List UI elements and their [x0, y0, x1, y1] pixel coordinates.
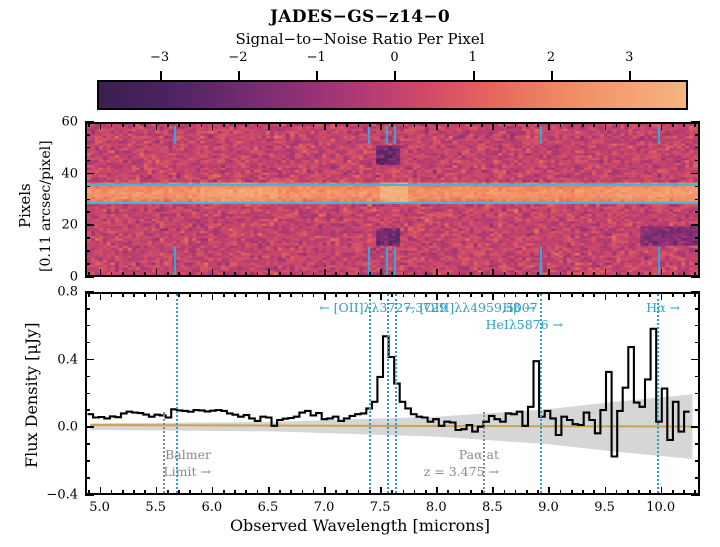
- panel2d-xtick: [571, 122, 573, 127]
- panel2d-xtick: [313, 122, 315, 127]
- panel2d-xtick: [661, 269, 663, 277]
- panel2d-xtick: [156, 269, 158, 277]
- panel2d-xtick: [346, 122, 348, 127]
- flux-xtick: [290, 490, 292, 495]
- flux-xtick: [156, 487, 158, 495]
- panel2d-xtick: [88, 122, 90, 127]
- colorbar-tick: [551, 71, 553, 80]
- panel2d-xtick: [111, 272, 113, 277]
- flux-xtick: [223, 490, 225, 495]
- flux-xtick: [369, 292, 371, 297]
- flux-xtick: [201, 490, 203, 495]
- flux-xtick: [526, 490, 528, 495]
- line-marker-tick-oiii-5007: [394, 126, 396, 144]
- flux-ytick: [691, 426, 700, 428]
- panel2d-xtick: [100, 269, 102, 277]
- colorbar-gradient: [97, 80, 688, 110]
- panel2d-xtick: [414, 272, 416, 277]
- panel2d-xtick: [302, 122, 304, 127]
- panel2d-ytick: [85, 121, 94, 123]
- panel2d-xtick: [582, 272, 584, 277]
- panel2d-xtick: [223, 122, 225, 127]
- panel2d-xtick: [302, 272, 304, 277]
- flux-xtick: [279, 292, 281, 297]
- panel2d-xtick: [346, 272, 348, 277]
- xaxis-tick-label: 5.5: [145, 500, 166, 515]
- panel2d-xtick: [481, 122, 483, 127]
- flux-xtick: [245, 490, 247, 495]
- panel2d-xtick: [515, 272, 517, 277]
- flux-ytick: [695, 393, 700, 395]
- flux-ytick: [85, 409, 90, 411]
- flux-xtick: [504, 292, 506, 297]
- flux-ytick: [695, 325, 700, 327]
- panel2d-xtick: [380, 269, 382, 277]
- panel2d-xtick: [447, 122, 449, 127]
- flux-xtick: [403, 490, 405, 495]
- flux-xtick: [694, 292, 696, 297]
- colorbar-tick: [629, 71, 631, 80]
- panel2d-xtick: [167, 122, 169, 127]
- panel2d-xtick: [582, 122, 584, 127]
- panel2d-xtick: [672, 272, 674, 277]
- panel2d-xtick: [358, 272, 360, 277]
- panel2d-xtick: [133, 122, 135, 127]
- panel2d-ytick: [85, 160, 90, 162]
- flux-xtick: [234, 490, 236, 495]
- line-marker-oiii-4959: [387, 294, 389, 493]
- colorbar-tick: [160, 71, 162, 80]
- flux-xtick: [571, 292, 573, 297]
- flux-xtick: [380, 292, 382, 300]
- flux-ytick: [85, 443, 90, 445]
- extraction-row-line: [87, 202, 698, 204]
- panel2d-ytick: [85, 211, 90, 213]
- flux-xtick: [201, 292, 203, 297]
- panel2d-xtick: [414, 122, 416, 127]
- annotation-oiii: ← [OIII]λλ4959,5007: [405, 300, 538, 315]
- flux-xtick: [414, 490, 416, 495]
- panel2d-xtick: [605, 122, 607, 130]
- flux-ytick: [85, 494, 94, 496]
- panel2d-xtick: [627, 272, 629, 277]
- panel2d-ytick: [85, 276, 94, 278]
- flux-xtick: [447, 292, 449, 297]
- flux-xtick: [459, 490, 461, 495]
- panel2d-xtick: [156, 122, 158, 130]
- flux-xtick: [313, 292, 315, 297]
- colorbar-tick-label: 1: [469, 50, 477, 65]
- panel2d-xtick: [504, 122, 506, 127]
- flux-xtick: [616, 490, 618, 495]
- panel2d-xtick: [436, 269, 438, 277]
- panel2d-ytick: [85, 186, 90, 188]
- panel2d-xtick: [672, 122, 674, 127]
- flux-xtick: [605, 292, 607, 300]
- flux-xtick: [459, 292, 461, 297]
- flux-xtick: [212, 487, 214, 495]
- flux-xtick: [100, 487, 102, 495]
- xaxis-tick-label: 9.5: [594, 500, 615, 515]
- flux-xtick: [111, 292, 113, 297]
- flux-xtick: [649, 490, 651, 495]
- panel2d-xtick: [425, 122, 427, 127]
- colorbar-tick-label: −2: [228, 50, 247, 65]
- panel2d-ytick: [85, 263, 90, 265]
- panel2d-xtick: [403, 272, 405, 277]
- panel2d-xtick: [436, 122, 438, 130]
- flux-xtick: [290, 292, 292, 297]
- panel2d-xtick: [189, 122, 191, 127]
- flux-xtick: [111, 490, 113, 495]
- panel2d-ytick: [691, 224, 700, 226]
- flux-xtick: [369, 490, 371, 495]
- flux-xtick: [178, 292, 180, 297]
- panel2d-xtick: [492, 122, 494, 130]
- panel2d-xtick: [459, 272, 461, 277]
- line-marker-oiii-5007: [395, 294, 397, 493]
- colorbar-tick-label: 0: [390, 50, 398, 65]
- flux-xtick: [346, 490, 348, 495]
- flux-xtick: [661, 487, 663, 495]
- xaxis-tick-label: 7.0: [314, 500, 335, 515]
- panel2d-xtick: [403, 122, 405, 127]
- panel2d-xtick: [144, 122, 146, 127]
- panel2d-xtick: [335, 122, 337, 127]
- panel2d-ytick: [695, 199, 700, 201]
- xaxis-tick-label: 5.0: [89, 500, 110, 515]
- xaxis-tick-label: 8.5: [482, 500, 503, 515]
- panel2d-ytick: [85, 147, 90, 149]
- flux-xtick: [504, 490, 506, 495]
- flux-xtick: [661, 292, 663, 300]
- xaxis-title: Observed Wavelength [microns]: [0, 516, 720, 535]
- flux-ytick: [695, 477, 700, 479]
- line-marker-tick-oiii-4959: [386, 126, 388, 144]
- flux-xtick: [436, 487, 438, 495]
- panel2d-xtick: [380, 122, 382, 130]
- panel2d-xtick: [649, 272, 651, 277]
- flux-xtick: [302, 292, 304, 297]
- flux-xtick: [571, 490, 573, 495]
- flux-ytick: [85, 460, 90, 462]
- panel2d-xtick: [492, 269, 494, 277]
- line-marker-hbeta: [369, 294, 371, 493]
- annotation-paschen-line1: Paα at: [459, 447, 499, 462]
- flux-xtick: [526, 292, 528, 297]
- flux-xtick: [638, 292, 640, 297]
- panel2d-xtick: [425, 272, 427, 277]
- annotation-hei: HeIλ5876 →: [486, 317, 563, 332]
- xaxis-tick-label: 7.5: [370, 500, 391, 515]
- annotation-balmer-line1: Balmer: [165, 447, 211, 462]
- panel2d-xtick: [683, 272, 685, 277]
- panel2d-xtick: [100, 122, 102, 130]
- flux-xtick: [414, 292, 416, 297]
- flux-xtick: [627, 292, 629, 297]
- panel2d-xtick: [144, 272, 146, 277]
- panel2d-xtick: [212, 269, 214, 277]
- panel2d-xtick: [212, 122, 214, 130]
- flux-xtick: [223, 292, 225, 297]
- flux-xtick: [391, 490, 393, 495]
- colorbar-tick: [316, 71, 318, 80]
- flux-ytick: [691, 359, 700, 361]
- panel2d-xtick: [537, 122, 539, 127]
- two-dimensional-spectrum-panel: [85, 122, 700, 277]
- flux-ytick: [691, 291, 700, 293]
- flux-xtick: [257, 292, 259, 297]
- panel2d-xtick: [571, 272, 573, 277]
- flux-xtick: [616, 292, 618, 297]
- panel2d-ytick: [695, 186, 700, 188]
- flux-xtick: [582, 490, 584, 495]
- panel2d-xtick: [638, 122, 640, 127]
- panel2d-ytick: [695, 134, 700, 136]
- flux-xtick: [156, 292, 158, 300]
- page-title: JADES−GS−z14−0: [0, 7, 720, 27]
- flux-xtick: [638, 490, 640, 495]
- flux-xtick: [268, 292, 270, 300]
- panel2d-xtick: [459, 122, 461, 127]
- annotation-halpha: Hα →: [646, 300, 680, 315]
- spectrum-heatmap: [87, 124, 698, 275]
- flux-xtick: [100, 292, 102, 300]
- panel2d-xtick: [201, 122, 203, 127]
- panel2d-xtick: [593, 272, 595, 277]
- panel2d-ytick-label: 60: [42, 115, 78, 130]
- flux-xtick: [403, 292, 405, 297]
- panel2d-xtick: [133, 272, 135, 277]
- figure-canvas: JADES−GS−z14−0 Signal−to−Noise Ratio Per…: [0, 0, 720, 547]
- flux-xtick: [447, 490, 449, 495]
- flux-xtick: [358, 490, 360, 495]
- panel2d-xtick: [694, 122, 696, 127]
- colorbar-tick-label: −1: [307, 50, 326, 65]
- panel2d-xtick: [548, 269, 550, 277]
- colorbar-tick: [473, 71, 475, 80]
- flux-ytick: [695, 376, 700, 378]
- line-marker-tick-hbeta: [368, 126, 370, 144]
- panel2d-xtick: [683, 122, 685, 127]
- panel2d-xtick: [290, 122, 292, 127]
- panel2d-xtick: [122, 122, 124, 127]
- panel2d-ytick: [695, 237, 700, 239]
- flux-xtick: [492, 292, 494, 300]
- flux-ytick: [85, 393, 90, 395]
- flux-xtick: [346, 292, 348, 297]
- flux-ytick: [695, 443, 700, 445]
- colorbar-tick-label: 3: [625, 50, 633, 65]
- flux-xtick: [122, 292, 124, 297]
- flux-xtick: [167, 490, 169, 495]
- flux-ytick: [85, 376, 90, 378]
- panel2d-xtick: [649, 122, 651, 127]
- panel2d-xtick: [245, 122, 247, 127]
- flux-xtick: [358, 292, 360, 297]
- colorbar-tick-label: 2: [547, 50, 555, 65]
- flux-panel-axis-title: Flux Density [μJy]: [22, 323, 41, 468]
- line-marker-tick-halpha: [658, 126, 660, 144]
- panel2d-xtick: [616, 272, 618, 277]
- flux-xtick: [279, 490, 281, 495]
- flux-xtick: [481, 490, 483, 495]
- panel2d-xtick: [548, 122, 550, 130]
- panel2d-xtick: [369, 272, 371, 277]
- flux-ytick: [695, 308, 700, 310]
- figure-subtitle: Signal−to−Noise Ratio Per Pixel: [0, 30, 720, 48]
- panel2d-xtick: [504, 272, 506, 277]
- panel2d-xtick: [661, 122, 663, 130]
- flux-xtick: [212, 292, 214, 300]
- panel2d-xtick: [167, 272, 169, 277]
- flux-xtick: [88, 292, 90, 297]
- flux-xtick: [144, 292, 146, 297]
- flux-xtick: [189, 292, 191, 297]
- panel2d-ytick: [691, 173, 700, 175]
- panel2d-xtick: [515, 122, 517, 127]
- panel2d-xtick: [391, 122, 393, 127]
- panel2d-xtick: [526, 272, 528, 277]
- flux-ytick: [85, 291, 94, 293]
- flux-xtick: [167, 292, 169, 297]
- flux-ytick: [695, 342, 700, 344]
- flux-ytick: [85, 426, 94, 428]
- panel2d-xtick: [313, 272, 315, 277]
- panel2d-xtick: [234, 122, 236, 127]
- flux-xtick: [481, 292, 483, 297]
- flux-xtick: [324, 292, 326, 300]
- panel2d-xtick: [324, 269, 326, 277]
- xaxis-tick-label: 6.5: [258, 500, 279, 515]
- line-marker-tick-oii-doublet: [174, 126, 176, 144]
- panel2d-xtick: [616, 122, 618, 127]
- panel2d-xtick: [268, 122, 270, 130]
- flux-xtick: [683, 292, 685, 297]
- flux-xtick: [548, 487, 550, 495]
- panel2d-ytick: [695, 263, 700, 265]
- panel2d-ytick: [691, 121, 700, 123]
- panel2d-ytick: [695, 211, 700, 213]
- flux-xtick: [178, 490, 180, 495]
- flux-ytick: [85, 308, 90, 310]
- flux-ytick-label: −0.4: [34, 488, 78, 503]
- flux-ytick: [691, 494, 700, 496]
- flux-ytick: [85, 342, 90, 344]
- panel2d-xtick: [470, 272, 472, 277]
- colorbar-tick: [238, 71, 240, 80]
- panel2d-xtick: [447, 272, 449, 277]
- panel2d-xtick: [526, 122, 528, 127]
- panel2d-xtick: [324, 122, 326, 130]
- panel2d-ytick: [691, 276, 700, 278]
- panel2d-xtick: [481, 272, 483, 277]
- panel2d-xtick: [391, 272, 393, 277]
- flux-ytick: [85, 477, 90, 479]
- flux-xtick: [683, 490, 685, 495]
- line-marker-tick-oiii-5007: [394, 247, 396, 277]
- flux-xtick: [245, 292, 247, 297]
- xaxis-tick-label: 6.0: [201, 500, 222, 515]
- flux-xtick: [470, 292, 472, 297]
- flux-xtick: [391, 292, 393, 297]
- panel2d-ytick: [85, 250, 90, 252]
- flux-xtick: [672, 490, 674, 495]
- xaxis-tick-label: 8.0: [426, 500, 447, 515]
- flux-xtick: [144, 490, 146, 495]
- panel2d-xtick: [245, 272, 247, 277]
- flux-xtick: [548, 292, 550, 300]
- flux-ytick: [695, 460, 700, 462]
- flux-xtick: [189, 490, 191, 495]
- flux-ytick: [85, 359, 94, 361]
- panel2d-xtick: [605, 269, 607, 277]
- xaxis-tick-label: 9.0: [538, 500, 559, 515]
- panel2d-ytick: [85, 173, 94, 175]
- panel2d-xtick: [111, 122, 113, 127]
- panel2d-ytick: [85, 134, 90, 136]
- panel2d-xtick: [234, 272, 236, 277]
- line-marker-tick-hei-5876: [540, 247, 542, 277]
- panel2d-axis-title-line1: Pixels: [16, 183, 34, 228]
- panel2d-xtick: [257, 272, 259, 277]
- flux-xtick: [257, 490, 259, 495]
- snr-colorbar: −3−2−10123: [97, 80, 688, 110]
- flux-xtick: [515, 490, 517, 495]
- flux-xtick: [133, 292, 135, 297]
- panel2d-xtick: [178, 122, 180, 127]
- flux-xtick: [537, 292, 539, 297]
- flux-xtick: [380, 487, 382, 495]
- flux-xtick: [425, 490, 427, 495]
- panel2d-xtick: [201, 272, 203, 277]
- panel2d-xtick: [638, 272, 640, 277]
- flux-xtick: [122, 490, 124, 495]
- panel2d-xtick: [470, 122, 472, 127]
- panel2d-xtick: [279, 122, 281, 127]
- panel2d-xtick: [257, 122, 259, 127]
- flux-xtick: [436, 292, 438, 300]
- flux-xtick: [234, 292, 236, 297]
- flux-xtick: [537, 490, 539, 495]
- panel2d-ytick: [85, 237, 90, 239]
- panel2d-xtick: [560, 122, 562, 127]
- flux-ytick-label: 0.8: [34, 285, 78, 300]
- panel2d-xtick: [537, 272, 539, 277]
- panel2d-xtick: [335, 272, 337, 277]
- panel2d-xtick: [627, 122, 629, 127]
- panel2d-xtick: [560, 272, 562, 277]
- annotation-balmer-line2: Limit →: [163, 464, 211, 479]
- panel2d-ytick: [695, 160, 700, 162]
- flux-ytick: [85, 325, 90, 327]
- line-marker-tick-oiii-4959: [386, 247, 388, 277]
- panel2d-xtick: [358, 122, 360, 127]
- flux-xtick: [492, 487, 494, 495]
- flux-xtick: [560, 490, 562, 495]
- panel2d-xtick: [122, 272, 124, 277]
- line-marker-tick-oii-doublet: [174, 247, 176, 277]
- flux-xtick: [335, 490, 337, 495]
- flux-xtick: [515, 292, 517, 297]
- flux-xtick: [649, 292, 651, 297]
- flux-xtick: [627, 490, 629, 495]
- panel2d-xtick: [178, 272, 180, 277]
- flux-xtick: [313, 490, 315, 495]
- flux-xtick: [302, 490, 304, 495]
- panel2d-xtick: [189, 272, 191, 277]
- flux-xtick: [335, 292, 337, 297]
